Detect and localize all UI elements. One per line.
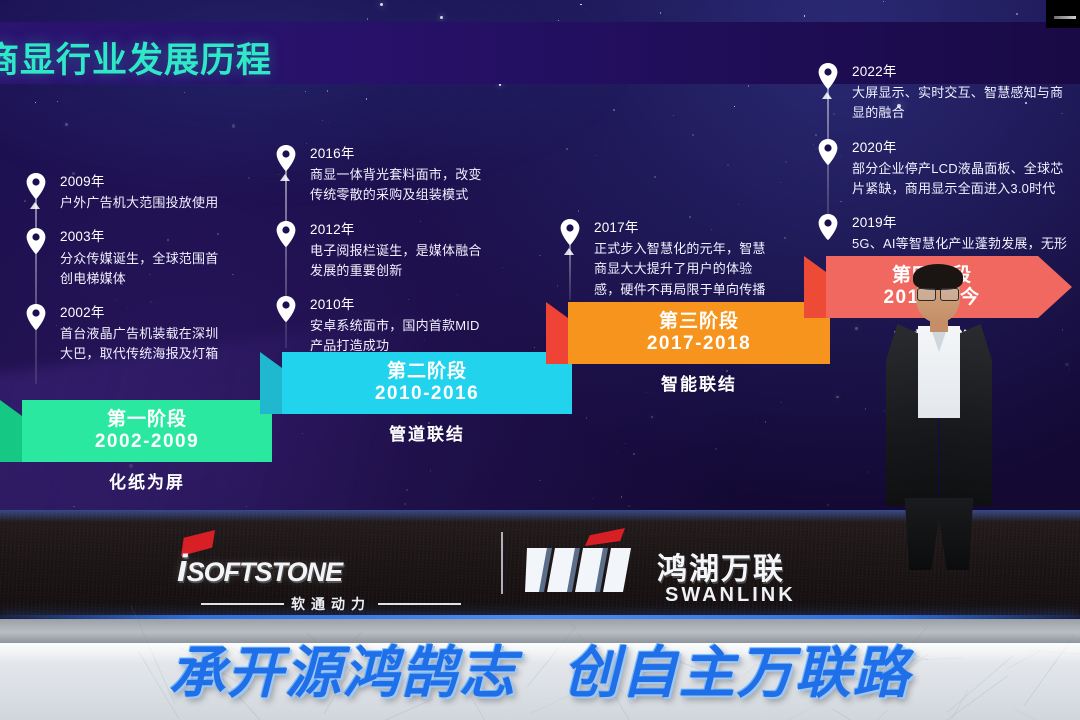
event-description: 电子阅报栏诞生，是媒体融合发展的重要创新: [310, 241, 488, 281]
phase-fold: [804, 256, 826, 318]
logo-row: iSOFTSTONE 软通动力: [165, 526, 905, 618]
map-pin-icon: [26, 173, 46, 199]
glasses-icon: [917, 288, 959, 299]
event-year: 2022年: [852, 62, 1070, 82]
event-description: 户外广告机大范围投放使用: [60, 193, 226, 213]
speaker-legs: [900, 498, 978, 570]
phase-banner-1: 第一阶段2002-2009化纸为屏: [22, 400, 272, 462]
phase-1-events: 2009年户外广告机大范围投放使用2003年分众传媒诞生，全球范围首创电梯媒体2…: [26, 172, 226, 378]
slogan-left: 承开源鸿鹄志: [169, 628, 517, 709]
event-description: 商显一体背光套料面市，改变传统零散的采购及组装模式: [310, 165, 488, 205]
swanlink-w-glyph: [525, 542, 645, 598]
presentation-photo: 商显行业发展历程 2009年户外广告机大范围投放使用2003年分众传媒诞生，全球…: [0, 0, 1080, 720]
speaker-person: [878, 268, 998, 568]
map-pin-icon: [818, 214, 838, 240]
phase-banner-2: 第二阶段2010-2016管道联结: [282, 352, 572, 414]
slogan-right: 创自主万联路: [563, 628, 911, 709]
swanlink-cn-name: 鸿湖万联: [657, 544, 785, 588]
map-pin-icon: [276, 296, 296, 322]
timeline-entry: 2020年部分企业停产LCD液晶面板、全球芯片紧缺，商用显示全面进入3.0时代: [818, 138, 1070, 200]
swanlink-mark-icon: [525, 542, 645, 598]
timeline-entry: 2016年商显一体背光套料面市，改变传统零散的采购及组装模式: [276, 144, 488, 206]
event-year: 2019年: [852, 213, 1070, 233]
phase-bar: 第二阶段2010-2016: [282, 352, 572, 414]
timeline-entry: 2002年首台液晶广告机装载在深圳大巴，取代传统海报及灯箱: [26, 303, 226, 365]
map-pin-icon: [26, 304, 46, 330]
phase-years: 2002-2009: [95, 431, 199, 453]
timeline-caret-icon: [822, 92, 832, 99]
phase-caption: 智能联结: [568, 370, 830, 395]
phase-2-events: 2016年商显一体背光套料面市，改变传统零散的采购及组装模式2012年电子阅报栏…: [276, 144, 488, 371]
timeline-entry: 2003年分众传媒诞生，全球范围首创电梯媒体: [26, 227, 226, 289]
event-description: 安卓系统面市，国内首款MID产品打造成功: [310, 316, 488, 356]
event-year: 2016年: [310, 144, 488, 164]
phase-name: 第一阶段: [107, 409, 187, 430]
phase-caption: 管道联结: [282, 420, 572, 445]
timeline-entry: 2022年大屏显示、实时交互、智慧感知与商显的融合: [818, 62, 1070, 124]
swanlink-en-name: SWANLINK: [665, 584, 796, 607]
timeline-entry: 2012年电子阅报栏诞生，是媒体融合发展的重要创新: [276, 220, 488, 282]
page-title: 商显行业发展历程: [0, 32, 272, 83]
event-year: 2017年: [594, 218, 772, 238]
map-pin-icon: [276, 145, 296, 171]
speaker-hair: [913, 264, 963, 290]
isoftstone-cn-name: 软通动力: [291, 594, 371, 614]
isoftstone-wordmark: iSOFTSTONE: [177, 548, 342, 591]
phase-years: 2017-2018: [647, 333, 751, 355]
timeline-caret-icon: [30, 202, 40, 209]
map-pin-icon: [26, 228, 46, 254]
map-pin-icon: [276, 221, 296, 247]
isoftstone-logo: iSOFTSTONE 软通动力: [165, 526, 495, 618]
timeline-entry: 2009年户外广告机大范围投放使用: [26, 172, 226, 213]
phase-arrowhead-icon: [1038, 256, 1072, 318]
event-year: 2012年: [310, 220, 488, 240]
event-description: 正式步入智慧化的元年，智慧商显大大提升了用户的体验感，硬件不再局限于单向传播: [594, 239, 772, 299]
phase-caption: 化纸为屏: [22, 468, 272, 493]
phase-banner-3: 第三阶段2017-2018智能联结: [568, 302, 830, 364]
event-description: 首台液晶广告机装载在深圳大巴，取代传统海报及灯箱: [60, 324, 226, 364]
phase-bar: 第三阶段2017-2018: [568, 302, 830, 364]
rule-left: [201, 603, 284, 605]
bottom-slogan: 承开源鸿鹄志 创自主万联路: [0, 627, 1080, 709]
corner-marker: [1046, 0, 1080, 28]
map-pin-icon: [818, 63, 838, 89]
phase-3-events: 2017年正式步入智慧化的元年，智慧商显大大提升了用户的体验感，硬件不再局限于单…: [560, 218, 772, 314]
event-year: 2010年: [310, 295, 488, 315]
map-pin-icon: [560, 219, 580, 245]
isoftstone-rest: SOFTSTONE: [187, 557, 343, 587]
rule-right: [378, 603, 461, 605]
timeline-entry: 2010年安卓系统面市，国内首款MID产品打造成功: [276, 295, 488, 357]
phase-fold: [0, 400, 22, 462]
event-description: 分众传媒诞生，全球范围首创电梯媒体: [60, 249, 226, 289]
event-year: 2002年: [60, 303, 226, 323]
event-description: 大屏显示、实时交互、智慧感知与商显的融合: [852, 83, 1070, 123]
event-year: 2020年: [852, 138, 1070, 158]
timeline-caret-icon: [564, 248, 574, 255]
timeline-entry: 2017年正式步入智慧化的元年，智慧商显大大提升了用户的体验感，硬件不再局限于单…: [560, 218, 772, 300]
phase-years: 2010-2016: [375, 383, 479, 405]
timeline-caret-icon: [280, 174, 290, 181]
phase-4-events: 2022年大屏显示、实时交互、智慧感知与商显的融合2020年部分企业停产LCD液…: [818, 62, 1070, 289]
isoftstone-lead: i: [177, 548, 187, 590]
map-pin-icon: [818, 139, 838, 165]
swanlink-logo: 鸿湖万联 SWANLINK: [525, 526, 875, 618]
phase-name: 第三阶段: [659, 311, 739, 332]
phase-fold: [546, 302, 568, 364]
logo-divider: [501, 532, 503, 594]
event-description: 部分企业停产LCD液晶面板、全球芯片紧缺，商用显示全面进入3.0时代: [852, 159, 1070, 199]
event-year: 2003年: [60, 227, 226, 247]
event-year: 2009年: [60, 172, 226, 192]
phase-fold: [260, 352, 282, 414]
phase-bar: 第一阶段2002-2009: [22, 400, 272, 462]
isoftstone-cn-row: 软通动力: [201, 594, 461, 614]
phase-name: 第二阶段: [387, 361, 467, 382]
